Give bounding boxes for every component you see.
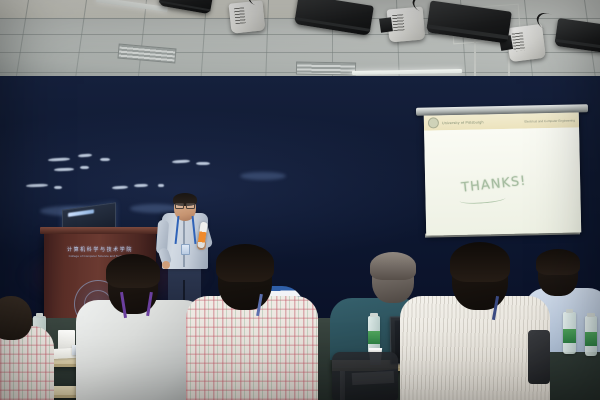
speaker-name-badge bbox=[181, 244, 190, 255]
chair-back bbox=[332, 352, 398, 400]
podium-chinese-text: 计算机科学与技术学院 bbox=[54, 246, 146, 253]
air-vent-icon bbox=[296, 61, 356, 75]
light-barrel bbox=[379, 17, 393, 33]
fluorescent-light bbox=[352, 69, 462, 75]
slide-surface: University of Pittsburgh Electrical and … bbox=[424, 112, 581, 235]
university-seal-icon bbox=[428, 117, 439, 128]
slide-body: THANKS! bbox=[424, 127, 581, 235]
slide-university-name: University of Pittsburgh bbox=[442, 120, 484, 125]
water-bottle bbox=[585, 316, 597, 356]
slide-thanks-text: THANKS! bbox=[461, 174, 528, 196]
audience-shirt bbox=[186, 296, 318, 400]
lecture-hall-photo: University of Pittsburgh Electrical and … bbox=[0, 0, 600, 400]
eyeglasses-icon bbox=[175, 203, 195, 207]
audience-head bbox=[0, 296, 32, 340]
slide-department-name: Electrical and Computer Engineering bbox=[524, 118, 574, 123]
speaker-lanyard bbox=[176, 216, 195, 246]
laptop-screen-glow bbox=[68, 209, 94, 217]
speaker-left-hand bbox=[162, 261, 170, 269]
backpack-strap bbox=[528, 330, 550, 384]
water-bottle bbox=[563, 312, 576, 354]
air-vent-icon bbox=[117, 44, 176, 64]
projection-screen: University of Pittsburgh Electrical and … bbox=[420, 106, 585, 236]
thanks-underline-swoosh bbox=[459, 194, 505, 205]
stage-spotlight bbox=[387, 6, 426, 42]
